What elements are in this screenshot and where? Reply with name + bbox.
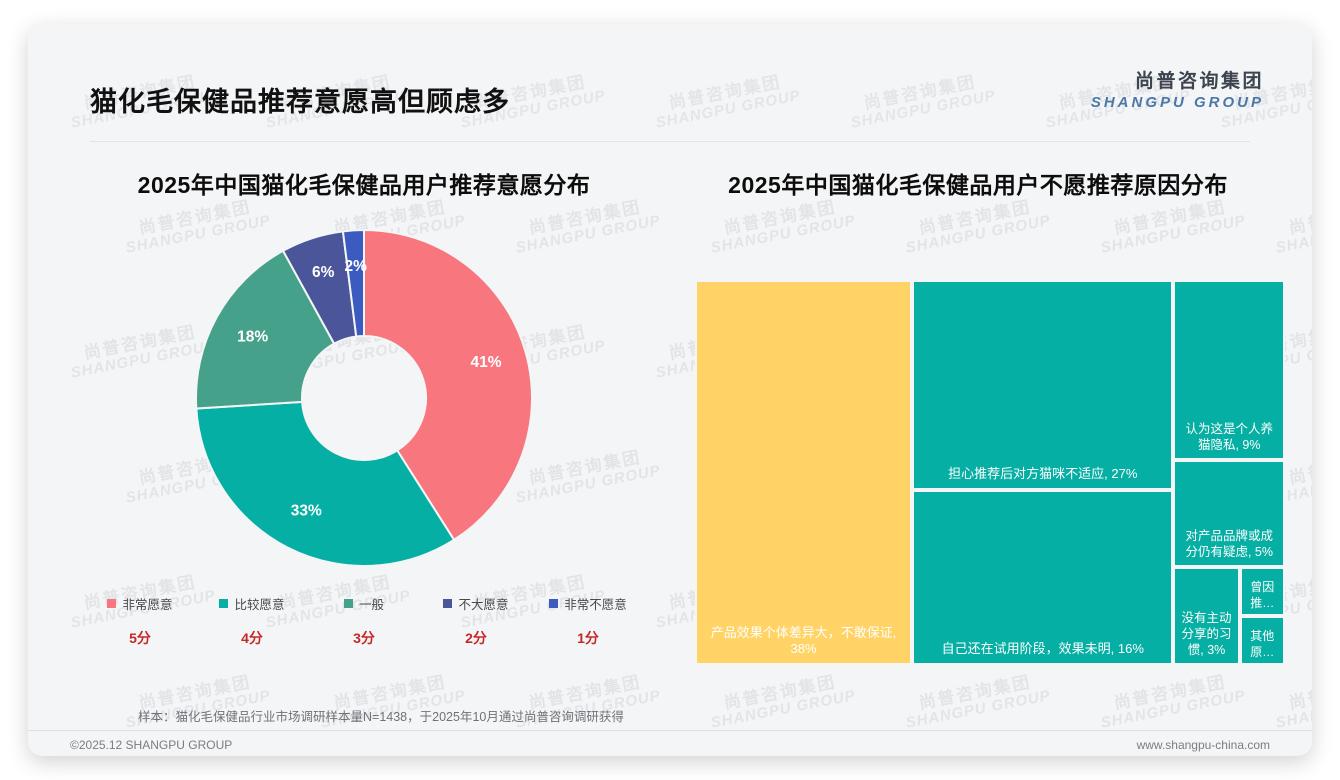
donut-chart-panel: 2025年中国猫化毛保健品用户推荐意愿分布 41%33%18%6%2% 非常愿意… (64, 166, 664, 706)
treemap-tile[interactable]: 认为这是个人养猫隐私, 9% (1173, 280, 1285, 460)
treemap-tile-label: 自己还在试用阶段，效果未明, 16% (914, 641, 1171, 663)
left-chart-title: 2025年中国猫化毛保健品用户推荐意愿分布 (64, 166, 664, 200)
treemap-tile[interactable]: 曾因推… (1240, 567, 1285, 616)
legend-swatch-icon (344, 599, 353, 608)
sample-footnote: 样本：猫化毛保健品行业市场调研样本量N=1438，于2025年10月通过尚普咨询… (138, 706, 624, 725)
slide-header: 猫化毛保健品推荐意愿高但顾虑多 尚普咨询集团 SHANGPU GROUP (28, 24, 1312, 120)
legend-label: 一般 (359, 594, 384, 613)
legend-swatch-icon (443, 599, 452, 608)
score-label: 5分 (84, 628, 196, 648)
treemap-chart: 产品效果个体差异大，不敢保证, 38%担心推荐后对方猫咪不适应, 27%自己还在… (695, 280, 1285, 665)
treemap-tile-label: 对产品品牌或成分仍有疑虑, 5% (1175, 528, 1283, 565)
treemap-tile[interactable]: 其他原… (1240, 616, 1285, 665)
legend-label: 非常不愿意 (564, 594, 627, 613)
treemap-tile[interactable]: 没有主动分享的习惯, 3% (1173, 567, 1239, 665)
footer-copyright: ©2025.12 SHANGPU GROUP (70, 738, 232, 752)
donut-legend: 非常愿意比较愿意一般不大愿意非常不愿意 (64, 594, 664, 613)
brand-logo: 尚普咨询集团 SHANGPU GROUP (1091, 66, 1264, 111)
logo-english-name: SHANGPU GROUP (1091, 94, 1264, 111)
slide-card: 尚普咨询集团SHANGPU GROUP尚普咨询集团SHANGPU GROUP尚普… (28, 24, 1312, 756)
legend-item[interactable]: 不大愿意 (420, 594, 532, 613)
legend-label: 非常愿意 (122, 594, 172, 613)
score-label: 4分 (196, 628, 308, 648)
legend-item[interactable]: 非常不愿意 (532, 594, 644, 613)
donut-slice-label: 18% (237, 328, 268, 345)
legend-item[interactable]: 非常愿意 (84, 594, 196, 613)
page-title: 猫化毛保健品推荐意愿高但顾虑多 (90, 80, 510, 119)
donut-slice-label: 2% (344, 258, 367, 275)
treemap-tile-label: 没有主动分享的习惯, 3% (1175, 610, 1237, 663)
donut-slice[interactable] (196, 402, 454, 566)
legend-swatch-icon (107, 599, 116, 608)
footer-website: www.shangpu-china.com (1137, 738, 1270, 752)
donut-slice-label: 33% (291, 503, 322, 520)
logo-chinese-name: 尚普咨询集团 (1091, 66, 1264, 93)
slide-footer: ©2025.12 SHANGPU GROUP www.shangpu-china… (28, 731, 1312, 756)
legend-swatch-icon (549, 599, 558, 608)
treemap-tile[interactable]: 对产品品牌或成分仍有疑虑, 5% (1173, 460, 1285, 567)
treemap-tile-label: 曾因推… (1242, 580, 1283, 614)
treemap-tile-label: 产品效果个体差异大，不敢保证, 38% (697, 625, 910, 663)
donut-slice-label: 6% (312, 264, 335, 281)
score-label: 3分 (308, 628, 420, 648)
right-chart-title: 2025年中国猫化毛保健品用户不愿推荐原因分布 (673, 166, 1283, 200)
donut-chart-svg: 41%33%18%6%2% (194, 228, 534, 568)
treemap-tile-label: 担心推荐后对方猫咪不适应, 27% (914, 466, 1171, 488)
legend-label: 不大愿意 (458, 594, 508, 613)
legend-label: 比较愿意 (234, 594, 284, 613)
treemap-tile[interactable]: 产品效果个体差异大，不敢保证, 38% (695, 280, 912, 665)
treemap-tile[interactable]: 担心推荐后对方猫咪不适应, 27% (912, 280, 1173, 490)
treemap-tile-label: 认为这是个人养猫隐私, 9% (1175, 421, 1283, 458)
legend-swatch-icon (219, 599, 228, 608)
treemap-tile-label: 其他原… (1242, 629, 1283, 663)
donut-score-row: 5分4分3分2分1分 (64, 628, 664, 648)
treemap-chart-panel: 2025年中国猫化毛保健品用户不愿推荐原因分布 产品效果个体差异大，不敢保证, … (673, 166, 1283, 706)
score-label: 2分 (420, 628, 532, 648)
donut-chart: 41%33%18%6%2% (194, 228, 534, 568)
donut-slice-label: 41% (470, 354, 501, 371)
header-divider (90, 141, 1250, 142)
legend-item[interactable]: 比较愿意 (196, 594, 308, 613)
treemap-tile[interactable]: 自己还在试用阶段，效果未明, 16% (912, 490, 1173, 665)
legend-item[interactable]: 一般 (308, 594, 420, 613)
score-label: 1分 (532, 628, 644, 648)
